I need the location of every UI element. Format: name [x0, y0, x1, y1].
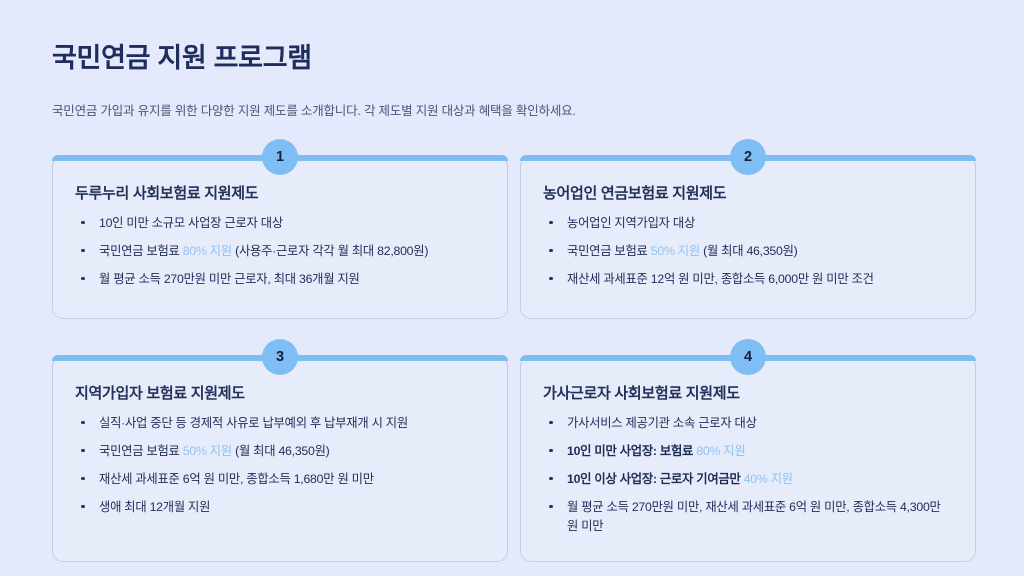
page-root: 국민연금 지원 프로그램 국민연금 가입과 유지를 위한 다양한 지원 제도를 … [0, 0, 1024, 576]
item-text: 국민연금 보험료 [99, 444, 183, 458]
page-title: 국민연금 지원 프로그램 [52, 42, 976, 76]
card-number-badge: 3 [262, 339, 298, 375]
item-text: 가사서비스 제공기관 소속 근로자 대상 [567, 416, 757, 430]
list-item: 농어업인 지역가입자 대상 [543, 214, 953, 233]
program-card-4[interactable]: 4 가사근로자 사회보험료 지원제도 가사서비스 제공기관 소속 근로자 대상 … [520, 355, 976, 562]
card-number-badge: 2 [730, 139, 766, 175]
item-text: 10인 미만 소규모 사업장 근로자 대상 [99, 216, 283, 230]
item-highlight: 50% 지원 [183, 444, 232, 458]
item-text: 농어업인 지역가입자 대상 [567, 216, 695, 230]
list-item: 가사서비스 제공기관 소속 근로자 대상 [543, 414, 953, 433]
program-card-3[interactable]: 3 지역가입자 보험료 지원제도 실직·사업 중단 등 경제적 사유로 납부예외… [52, 355, 508, 562]
card-number-badge: 1 [262, 139, 298, 175]
list-item: 10인 미만 소규모 사업장 근로자 대상 [75, 214, 485, 233]
list-item: 국민연금 보험료 50% 지원 (월 최대 46,350원) [543, 242, 953, 261]
list-item: 국민연금 보험료 50% 지원 (월 최대 46,350원) [75, 442, 485, 461]
card-heading: 가사근로자 사회보험료 지원제도 [543, 382, 953, 403]
program-card-1[interactable]: 1 두루누리 사회보험료 지원제도 10인 미만 소규모 사업장 근로자 대상 … [52, 155, 508, 319]
item-text: 10인 이상 사업장: 근로자 기여금만 [567, 472, 744, 486]
list-item: 재산세 과세표준 6억 원 미만, 종합소득 1,680만 원 미만 [75, 470, 485, 489]
item-highlight: 50% 지원 [651, 244, 700, 258]
list-item: 10인 미만 사업장: 보험료 80% 지원 [543, 442, 953, 461]
item-text: 국민연금 보험료 [567, 244, 651, 258]
card-bullet-list: 10인 미만 소규모 사업장 근로자 대상 국민연금 보험료 80% 지원 (사… [75, 214, 485, 289]
item-text: 월 평균 소득 270만원 미만 근로자, 최대 36개월 지원 [99, 272, 360, 286]
item-highlight: 80% 지원 [183, 244, 232, 258]
card-heading: 두루누리 사회보험료 지원제도 [75, 182, 485, 203]
item-text: 월 평균 소득 270만원 미만, 재산세 과세표준 6억 원 미만, 종합소득… [567, 500, 941, 533]
list-item: 국민연금 보험료 80% 지원 (사용주·근로자 각각 월 최대 82,800원… [75, 242, 485, 261]
item-text: 생애 최대 12개월 지원 [99, 500, 210, 514]
item-text-post: (사용주·근로자 각각 월 최대 82,800원) [232, 244, 428, 258]
list-item: 생애 최대 12개월 지원 [75, 498, 485, 517]
item-text-post: (월 최대 46,350원) [700, 244, 798, 258]
card-bullet-list: 가사서비스 제공기관 소속 근로자 대상 10인 미만 사업장: 보험료 80%… [543, 414, 953, 536]
program-card-2[interactable]: 2 농어업인 연금보험료 지원제도 농어업인 지역가입자 대상 국민연금 보험료… [520, 155, 976, 319]
card-grid: 1 두루누리 사회보험료 지원제도 10인 미만 소규모 사업장 근로자 대상 … [52, 155, 976, 562]
list-item: 월 평균 소득 270만원 미만 근로자, 최대 36개월 지원 [75, 270, 485, 289]
item-text: 재산세 과세표준 12억 원 미만, 종합소득 6,000만 원 미만 조건 [567, 272, 874, 286]
item-text: 실직·사업 중단 등 경제적 사유로 납부예외 후 납부재개 시 지원 [99, 416, 408, 430]
card-bullet-list: 실직·사업 중단 등 경제적 사유로 납부예외 후 납부재개 시 지원 국민연금… [75, 414, 485, 517]
list-item: 10인 이상 사업장: 근로자 기여금만 40% 지원 [543, 470, 953, 489]
card-number-badge: 4 [730, 339, 766, 375]
item-text: 10인 미만 사업장: 보험료 [567, 444, 696, 458]
card-bullet-list: 농어업인 지역가입자 대상 국민연금 보험료 50% 지원 (월 최대 46,3… [543, 214, 953, 289]
list-item: 월 평균 소득 270만원 미만, 재산세 과세표준 6억 원 미만, 종합소득… [543, 498, 953, 536]
card-heading: 농어업인 연금보험료 지원제도 [543, 182, 953, 203]
card-heading: 지역가입자 보험료 지원제도 [75, 382, 485, 403]
item-highlight: 80% 지원 [696, 444, 745, 458]
list-item: 재산세 과세표준 12억 원 미만, 종합소득 6,000만 원 미만 조건 [543, 270, 953, 289]
list-item: 실직·사업 중단 등 경제적 사유로 납부예외 후 납부재개 시 지원 [75, 414, 485, 433]
item-highlight: 40% 지원 [744, 472, 793, 486]
page-subtitle: 국민연금 가입과 유지를 위한 다양한 지원 제도를 소개합니다. 각 제도별 … [52, 102, 976, 121]
item-text: 재산세 과세표준 6억 원 미만, 종합소득 1,680만 원 미만 [99, 472, 374, 486]
item-text: 국민연금 보험료 [99, 244, 183, 258]
item-text-post: (월 최대 46,350원) [232, 444, 330, 458]
